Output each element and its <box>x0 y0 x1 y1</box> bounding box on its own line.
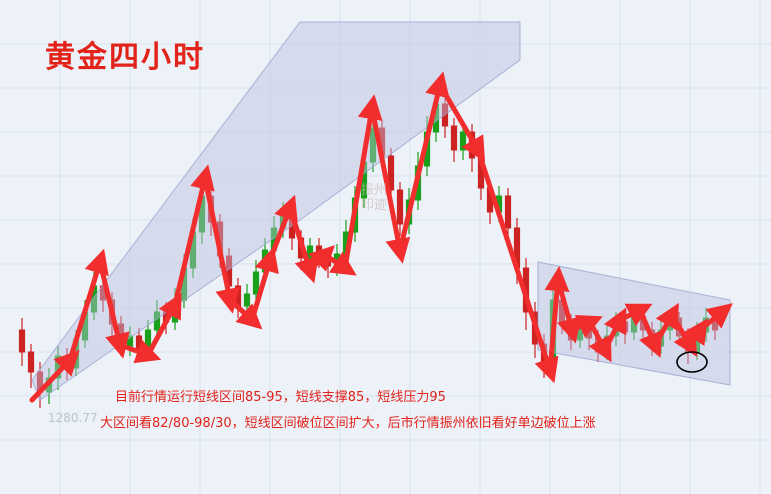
annotation-line-2: 大区间看82/80-98/30，短线区间破位区间扩大，后市行情振州依旧看好单边破… <box>100 412 596 431</box>
price-label: 1280.77 <box>48 411 98 425</box>
annotation-line-1: 目前行情运行短线区间85-95，短线支撑85，短线压力95 <box>115 386 446 405</box>
watermark-text: 振州印迹 <box>352 183 396 227</box>
chart-canvas: 黄金四小时 振州印迹 1280.77 目前行情运行短线区间85-95，短线支撑8… <box>0 0 771 494</box>
chart-title: 黄金四小时 <box>45 32 205 76</box>
